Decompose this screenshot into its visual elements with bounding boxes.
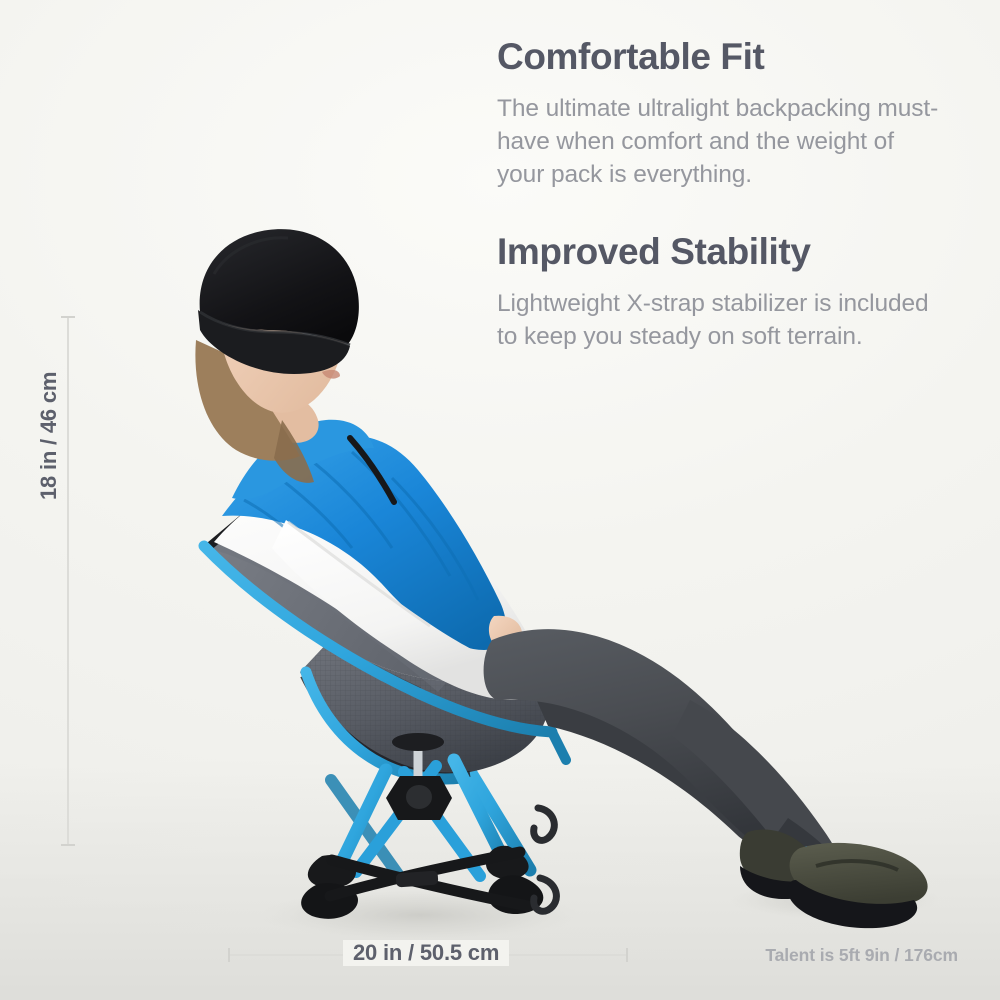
- feature-body-2: Lightweight X-strap stabilizer is includ…: [497, 287, 945, 354]
- talent-height-note: Talent is 5ft 9in / 176cm: [765, 945, 958, 966]
- feature-block-improved-stability: Improved Stability Lightweight X-strap s…: [497, 231, 945, 353]
- width-dimension-label: 20 in / 50.5 cm: [343, 940, 509, 966]
- feature-heading-2: Improved Stability: [497, 231, 945, 274]
- product-image-canvas: Comfortable Fit The ultimate ultralight …: [0, 0, 1000, 1000]
- feature-block-comfortable-fit: Comfortable Fit The ultimate ultralight …: [497, 36, 945, 191]
- feature-copy: Comfortable Fit The ultimate ultralight …: [497, 36, 945, 354]
- feature-body-1: The ultimate ultralight backpacking must…: [497, 92, 945, 192]
- feature-heading-1: Comfortable Fit: [497, 36, 945, 79]
- height-dimension-label: 18 in / 46 cm: [36, 372, 62, 500]
- height-dimension-line: [67, 316, 69, 846]
